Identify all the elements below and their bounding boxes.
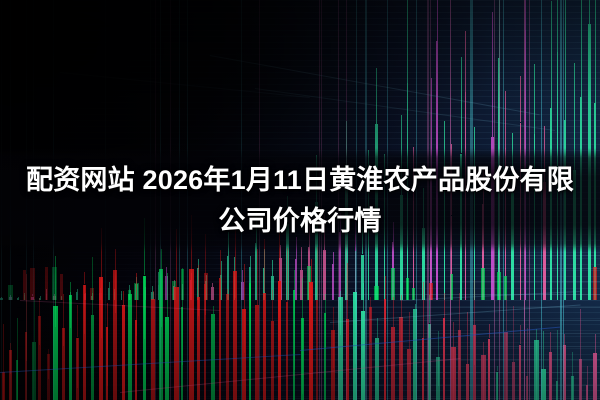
candle-body: [481, 268, 485, 300]
volume-bar: [219, 278, 221, 400]
volume-bar: [369, 307, 372, 400]
candle-wick: [465, 31, 466, 92]
volume-wick-top: [317, 247, 318, 300]
volume-wick-top: [347, 263, 348, 319]
candle-body: [134, 283, 139, 300]
volume-bar: [255, 305, 259, 400]
candle-wick: [250, 256, 251, 267]
volume-bar: [91, 315, 94, 400]
volume-wick-top: [325, 294, 326, 313]
candle-wick: [40, 296, 41, 298]
volume-wick-top: [26, 274, 27, 332]
candle-body: [204, 273, 208, 300]
volume-wick: [205, 284, 206, 315]
volume-bar: [211, 314, 215, 400]
volume-wick: [77, 338, 78, 389]
candle-bar: [182, 289, 183, 300]
title-line-2: 公司价格行情: [24, 201, 576, 242]
candle-body: [497, 272, 501, 301]
volume-wick: [144, 276, 145, 340]
candle-body: [504, 276, 507, 300]
trend-line: [210, 55, 540, 115]
volume-wick: [438, 357, 439, 386]
volume-bar: [197, 297, 200, 400]
trend-line: [60, 72, 310, 98]
volume-bar: [301, 318, 304, 400]
volume-wick-top: [92, 257, 93, 314]
candle-bar: [249, 267, 251, 300]
candle-wick: [520, 76, 521, 123]
candle-body: [128, 290, 131, 301]
volume-wick-top: [294, 270, 295, 291]
candle-bar: [99, 293, 102, 300]
volume-wick: [474, 325, 475, 365]
volume-wick-top: [55, 256, 56, 306]
volume-wick-top: [182, 268, 183, 306]
candle-bar: [53, 296, 56, 300]
candle-body: [23, 270, 26, 300]
volume-wick: [26, 332, 27, 361]
volume-bar: [384, 299, 386, 400]
candle-bar: [323, 250, 326, 300]
candle-bar: [114, 292, 115, 300]
candle-wick: [166, 267, 167, 276]
candle-wick: [206, 275, 207, 281]
volume-wick-top: [84, 272, 85, 284]
volume-bar: [541, 369, 546, 400]
volume-wick-top: [444, 293, 445, 318]
volume-bar: [324, 313, 326, 400]
volume-wick-top: [355, 251, 356, 292]
volume-wick-top: [401, 295, 402, 317]
candle-wick: [145, 287, 146, 290]
volume-wick-top: [550, 332, 551, 352]
volume-wick: [527, 376, 528, 400]
volume-wick-top: [572, 352, 573, 376]
volume-bar: [526, 376, 528, 400]
volume-bar: [106, 327, 108, 400]
page-title: 配资网站 2026年1月11日黄淮农产品股份有限 公司价格行情: [0, 160, 600, 242]
volume-wick: [302, 318, 303, 394]
candle-wick: [109, 282, 110, 288]
candle-bar: [205, 281, 207, 300]
volume-bar: [451, 347, 456, 400]
volume-wick-top: [227, 289, 228, 294]
candle-wick: [534, 64, 535, 134]
volume-wick-top: [474, 280, 475, 325]
volume-wick: [279, 281, 280, 358]
volume-bar: [286, 302, 288, 400]
candle-body: [307, 266, 311, 300]
volume-wick: [580, 359, 581, 400]
candle-bar: [271, 276, 274, 300]
candle-bar: [108, 288, 110, 300]
candle-bar: [295, 259, 297, 300]
volume-wick-top: [244, 264, 245, 309]
volume-wick: [250, 283, 251, 355]
candle-wick: [407, 0, 408, 83]
volume-wick-top: [10, 343, 11, 350]
candle-wick: [32, 294, 33, 296]
candle-bar: [300, 270, 303, 300]
volume-wick-top: [385, 276, 386, 299]
volume-bar: [2, 372, 5, 400]
volume-bar: [556, 381, 558, 400]
volume-wick-top: [167, 273, 168, 317]
volume-bar: [563, 345, 566, 400]
volume-wick-top: [213, 306, 214, 315]
volume-wick: [536, 340, 537, 400]
volume-wick: [115, 270, 116, 314]
volume-wick-top: [497, 366, 498, 371]
volume-wick-top: [506, 295, 507, 331]
volume-wick-top: [257, 249, 258, 304]
trend-line: [255, 88, 555, 131]
volume-bar: [346, 319, 349, 400]
trend-line: [20, 300, 220, 311]
candle-bar: [190, 280, 192, 300]
candle-wick: [492, 12, 493, 136]
volume-bar: [443, 318, 445, 400]
candle-wick: [152, 286, 153, 292]
volume-wick: [101, 277, 102, 338]
volume-wick: [198, 297, 199, 316]
candle-bar: [220, 275, 222, 300]
candle-bar: [241, 282, 244, 300]
chart-banner: 配资网站 2026年1月11日黄淮农产品股份有限 公司价格行情: [0, 0, 600, 400]
volume-bar: [534, 340, 539, 400]
candle-bar: [308, 247, 310, 300]
volume-wick: [311, 282, 312, 304]
volume-wick-top: [161, 249, 162, 269]
volume-wick: [244, 309, 245, 354]
candle-wick: [461, 57, 462, 153]
volume-bar: [422, 338, 424, 400]
candle-wick: [136, 277, 137, 284]
volume-bar: [62, 328, 65, 400]
volume-wick-top: [34, 299, 35, 342]
candle-bar: [39, 298, 41, 300]
candle-body: [8, 285, 13, 300]
candle-wick: [272, 260, 273, 277]
volume-wick: [355, 292, 356, 364]
volume-bar: [316, 300, 318, 400]
volume-wick-top: [363, 283, 364, 311]
volume-bar: [309, 282, 313, 400]
candle-wick: [505, 91, 506, 148]
volume-wick-top: [453, 322, 454, 347]
volume-bar: [399, 317, 403, 400]
volume-bar: [481, 355, 486, 400]
volume-bar: [293, 290, 295, 400]
volume-wick: [401, 317, 402, 361]
candle-wick: [221, 261, 222, 274]
volume-bar: [361, 311, 365, 400]
volume-bar: [135, 320, 137, 400]
volume-wick: [363, 311, 364, 365]
candle-wick: [437, 0, 438, 41]
volume-bar: [391, 327, 395, 400]
candle-bar: [31, 297, 34, 301]
candle-bar: [46, 294, 47, 300]
volume-wick-top: [3, 324, 4, 372]
volume-wick: [340, 297, 341, 335]
candle-wick: [499, 0, 500, 58]
volume-bar: [159, 269, 163, 400]
volume-wick: [235, 271, 236, 298]
volume-bar: [174, 287, 179, 400]
volume-bar: [579, 359, 582, 400]
volume-wick: [161, 269, 162, 327]
volume-bar: [458, 330, 461, 400]
volume-wick-top: [423, 282, 424, 339]
candle-wick: [565, 0, 566, 120]
trend-line: [300, 327, 560, 351]
candle-bar: [135, 284, 138, 300]
candle-bar: [145, 290, 146, 300]
candle-bar: [332, 264, 334, 300]
candle-body: [450, 274, 453, 301]
candle-body: [30, 268, 35, 300]
volume-wick-top: [483, 342, 484, 354]
volume-bar: [466, 364, 469, 400]
volume-wick: [564, 345, 565, 381]
volume-wick-top: [220, 250, 221, 278]
volume-wick-top: [198, 265, 199, 297]
volume-wick-top: [272, 290, 273, 322]
volume-bar: [512, 362, 515, 400]
candle-body: [429, 283, 433, 300]
volume-bar: [519, 345, 521, 400]
volume-wick-top: [333, 307, 334, 330]
volume-wick-top: [17, 318, 18, 360]
candle-bar: [158, 285, 159, 300]
volume-wick: [70, 295, 71, 328]
volume-bar: [76, 338, 79, 400]
volume-wick-top: [587, 366, 588, 385]
volume-wick: [489, 339, 490, 400]
volume-bar: [38, 316, 41, 400]
volume-bar: [9, 350, 12, 400]
volume-bar: [353, 292, 357, 400]
volume-bar: [53, 306, 58, 400]
candle-wick: [595, 0, 596, 103]
volume-bar: [428, 324, 431, 400]
volume-wick: [10, 350, 11, 375]
volume-wick: [84, 285, 85, 335]
candle-wick: [121, 291, 122, 294]
volume-wick: [385, 299, 386, 332]
candle-body: [374, 286, 379, 300]
candle-wick: [18, 297, 19, 298]
candle-bar: [9, 297, 12, 300]
volume-bar: [181, 307, 183, 400]
candle-body: [412, 288, 415, 300]
candle-wick: [24, 293, 25, 296]
candle-bar: [211, 287, 214, 300]
volume-bar: [47, 354, 50, 400]
trend-line: [330, 305, 580, 323]
volume-wick-top: [153, 291, 154, 298]
candle-bar: [234, 276, 235, 300]
volume-bar: [571, 376, 574, 400]
volume-wick-top: [580, 309, 581, 359]
candle-wick: [264, 249, 265, 268]
volume-wick-top: [136, 273, 137, 321]
candle-wick: [77, 289, 78, 292]
volume-wick: [325, 313, 326, 348]
candle-body: [60, 274, 63, 300]
volume-bar: [122, 305, 125, 400]
candle-wick: [92, 293, 93, 296]
volume-wick: [182, 307, 183, 366]
volume-wick-top: [130, 290, 131, 294]
candle-wick: [85, 293, 86, 295]
volume-wick: [370, 307, 371, 342]
candle-wick: [46, 289, 47, 294]
candle-bar: [69, 295, 71, 300]
volume-bar: [593, 353, 597, 400]
volume-wick-top: [595, 334, 596, 353]
candle-body: [406, 278, 409, 300]
candle-wick: [129, 285, 130, 289]
volume-bar: [165, 317, 169, 400]
volume-wick: [333, 330, 334, 368]
volume-wick-top: [438, 331, 439, 357]
volume-bar: [496, 372, 498, 400]
volume-wick-top: [459, 293, 460, 330]
volume-wick-top: [311, 259, 312, 283]
candle-wick: [212, 283, 213, 287]
candle-body: [593, 267, 597, 300]
volume-bar: [151, 299, 155, 400]
volume-wick-top: [48, 349, 49, 355]
candle-wick: [10, 295, 11, 297]
candle-body: [45, 267, 48, 301]
volume-wick: [63, 328, 64, 347]
volume-bar: [271, 321, 274, 400]
volume-wick-top: [77, 305, 78, 337]
volume-wick: [459, 330, 460, 370]
volume-wick: [444, 318, 445, 334]
volume-wick: [3, 372, 4, 400]
volume-wick: [17, 360, 18, 400]
volume-wick-top: [302, 278, 303, 319]
volume-wick-top: [489, 324, 490, 339]
trend-line: [120, 358, 460, 393]
volume-wick-top: [467, 312, 468, 365]
volume-wick: [55, 306, 56, 327]
volume-wick-top: [393, 297, 394, 327]
candle-wick: [198, 259, 199, 269]
volume-bar: [226, 294, 229, 400]
candle-wick: [589, 0, 590, 24]
candle-bar: [0, 298, 3, 300]
volume-bar: [113, 270, 117, 400]
volume-bar: [436, 357, 440, 400]
volume-wick-top: [536, 329, 537, 340]
volume-bar: [233, 271, 237, 400]
volume-wick-top: [415, 304, 416, 309]
volume-wick: [453, 347, 454, 400]
volume-bar: [69, 295, 72, 400]
volume-bar: [407, 349, 411, 400]
volume-bar: [25, 332, 27, 400]
candle-wick: [376, 68, 377, 124]
volume-wick-top: [527, 328, 528, 376]
candle-wick: [100, 288, 101, 292]
trend-line: [0, 354, 300, 373]
volume-wick-top: [513, 306, 514, 362]
candle-body: [181, 269, 184, 300]
candle-wick: [174, 280, 175, 286]
candle-wick: [191, 273, 192, 280]
candle-body: [172, 281, 176, 300]
volume-bar: [143, 276, 146, 400]
candle-bar: [17, 298, 19, 300]
volume-bar: [32, 342, 36, 400]
candle-wick: [333, 252, 334, 264]
volume-wick-top: [340, 291, 341, 297]
volume-wick-top: [63, 294, 64, 328]
candle-wick: [70, 292, 71, 295]
volume-wick: [572, 376, 573, 400]
volume-bar: [413, 309, 417, 400]
volume-bar: [375, 338, 379, 400]
volume-bar: [249, 283, 251, 400]
volume-bar: [504, 332, 508, 400]
volume-wick: [483, 355, 484, 400]
candle-bar: [361, 255, 364, 301]
candle-wick: [525, 0, 526, 30]
volume-wick-top: [70, 282, 71, 295]
candle-body: [391, 268, 395, 300]
volume-wick-top: [564, 334, 565, 345]
volume-bar: [99, 277, 103, 400]
volume-bar: [242, 309, 246, 400]
volume-wick: [587, 385, 588, 400]
trend-line: [400, 291, 580, 301]
volume-bar: [204, 284, 206, 400]
volume-wick: [107, 327, 108, 385]
candle-bar: [151, 292, 154, 300]
volume-wick-top: [370, 297, 371, 307]
volume-wick-top: [250, 277, 251, 284]
volume-bar: [189, 269, 194, 400]
volume-wick: [506, 332, 507, 400]
volume-bar: [128, 294, 132, 400]
volume-wick-top: [543, 331, 544, 370]
volume-wick: [595, 353, 596, 384]
candle-wick: [114, 289, 115, 292]
volume-bar: [549, 352, 552, 400]
candle-bar: [24, 295, 25, 300]
candle-wick: [234, 257, 235, 276]
volume-bar: [83, 285, 86, 400]
volume-wick: [39, 316, 40, 345]
candle-bar: [165, 276, 168, 300]
horizontal-gridlines-lower: [0, 255, 600, 400]
candle-bar: [263, 268, 265, 300]
volume-wick-top: [409, 312, 410, 349]
candle-wick: [1, 297, 2, 298]
volume-wick-top: [429, 295, 430, 323]
volume-wick-top: [287, 248, 288, 302]
candle-bar: [61, 297, 62, 300]
volume-wick-top: [107, 303, 108, 327]
volume-bar: [16, 360, 18, 400]
volume-bar: [488, 339, 490, 400]
